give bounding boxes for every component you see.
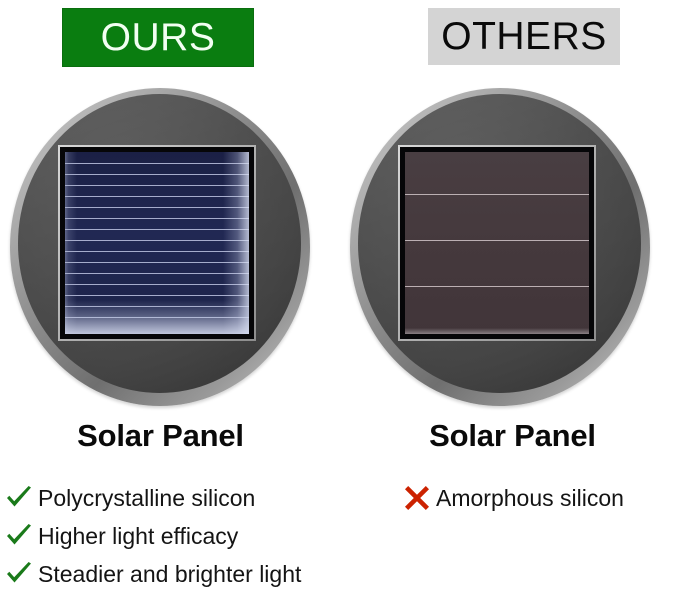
panel-frame	[60, 147, 254, 339]
feature-item: Amorphous silicon	[402, 479, 679, 517]
check-icon	[4, 521, 34, 551]
feature-item: Higher light efficacy	[4, 517, 339, 555]
feature-label: Polycrystalline silicon	[38, 485, 255, 512]
product-title-others: Solar Panel	[340, 418, 679, 454]
comparison-infographic: OURS	[0, 0, 679, 587]
panel-grid-lines	[405, 152, 589, 334]
solar-lamp-ours	[10, 88, 310, 406]
cross-icon	[402, 483, 432, 513]
solar-panel-others	[398, 145, 596, 341]
panel-face-polycrystalline	[65, 152, 249, 334]
badge-ours: OURS	[62, 8, 254, 67]
badge-others: OTHERS	[428, 8, 620, 65]
check-icon	[4, 559, 34, 589]
comparison-column-ours: OURS	[0, 0, 339, 587]
panel-glow-bottom	[65, 300, 249, 334]
panel-frame	[400, 147, 594, 339]
feature-item: Steadier and brighter light	[4, 555, 339, 593]
panel-face-amorphous	[405, 152, 589, 334]
feature-label: Higher light efficacy	[38, 523, 238, 550]
feature-label: Amorphous silicon	[436, 485, 624, 512]
comparison-column-others: OTHERS Solar Panel	[340, 0, 679, 587]
product-title-ours: Solar Panel	[0, 418, 339, 454]
check-icon	[4, 483, 34, 513]
feature-item: Polycrystalline silicon	[4, 479, 339, 517]
feature-list-ours: Polycrystalline silicon Higher light eff…	[0, 479, 339, 593]
solar-panel-ours	[58, 145, 256, 341]
solar-lamp-others	[350, 88, 650, 406]
panel-glow-bottom	[405, 328, 589, 334]
feature-label: Steadier and brighter light	[38, 561, 301, 588]
feature-list-others: Amorphous silicon	[340, 479, 679, 517]
